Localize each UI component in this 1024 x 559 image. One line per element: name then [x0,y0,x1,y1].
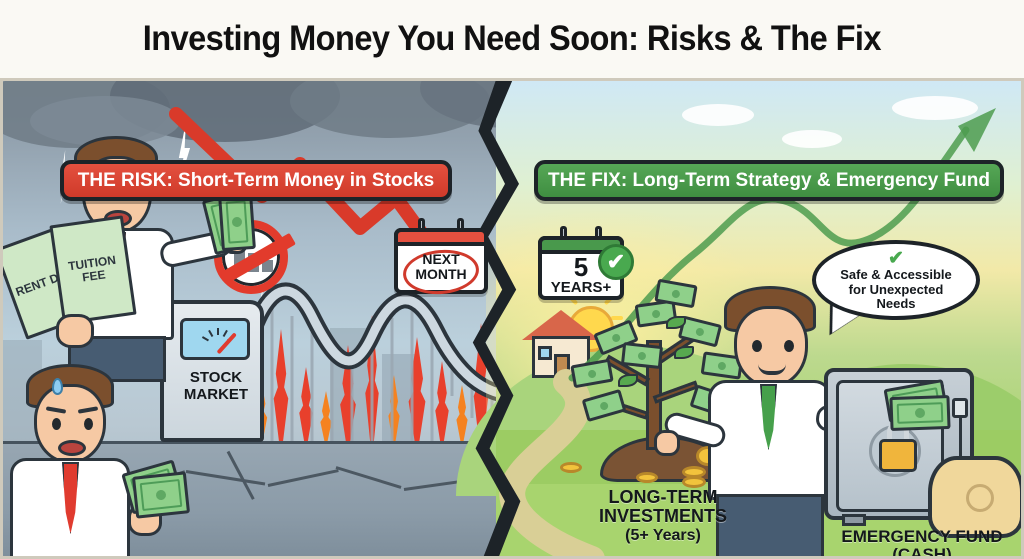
cash-bill-icon [889,395,950,431]
calendar-next-month-label: NEXT MONTH [398,252,484,282]
caption-emergency-fund: EMERGENCY FUND (CASH) [826,528,1018,559]
calendar-next-month: NEXT MONTH [394,228,488,294]
bill-tuition-fee: TUITION FEE [49,215,136,324]
bag-knot [960,478,1000,518]
eye [52,418,61,430]
fix-panel [496,78,1024,559]
stock-market-pedestal: STOCK MARKET [160,300,264,442]
speech-bubble-text: Safe & Accessible for Unexpected Needs [840,268,952,312]
safe-foot [842,514,866,526]
cash-bill-icon [132,471,190,518]
gauge-needle [217,332,237,354]
hand-shape [56,314,94,348]
eye [84,418,93,430]
crack-line [336,466,402,489]
gauge-tick [202,336,209,341]
safe-handle[interactable] [952,398,968,418]
gold-coin-icon [636,472,658,483]
page-title: Investing Money You Need Soon: Risks & T… [143,19,881,59]
caption-long-term-investments: LONG-TERM INVESTMENTS (5+ Years) [568,488,758,544]
mouth-shape [58,440,86,456]
money-leaf-icon [621,342,663,369]
gauge-icon [180,318,250,360]
calendar-header [394,228,488,246]
stock-market-label: STOCK MARKET [164,370,268,404]
head-shape [734,306,808,388]
gold-coin-icon [560,462,582,473]
cash-bill-icon [218,193,256,251]
calendar-unit-label: YEARS+ [542,280,620,295]
speech-bubble: ✔ Safe & Accessible for Unexpected Needs [812,240,980,320]
crack-line [268,469,339,487]
eye [784,340,794,352]
green-check-icon: ✔ [888,250,904,267]
fix-banner: THE FIX: Long-Term Strategy & Emergency … [534,160,1004,201]
money-bag-icon [928,456,1024,538]
crack-line [227,451,255,500]
risk-banner: THE RISK: Short-Term Money in Stocks [60,160,452,201]
crack-line [186,470,265,485]
gauge-tick [217,328,219,335]
hand-shape [654,430,680,456]
gauge-tick [208,330,213,337]
illustration-scene: STOCK MARKET [0,78,1024,559]
check-badge-icon: ✔ [598,244,634,280]
eye [752,340,762,352]
padlock-body [879,439,917,472]
gauge-tick [223,330,228,337]
sweat-drop-icon [52,378,63,395]
title-bar: Investing Money You Need Soon: Risks & T… [0,0,1024,78]
infographic-page: Investing Money You Need Soon: Risks & T… [0,0,1024,559]
